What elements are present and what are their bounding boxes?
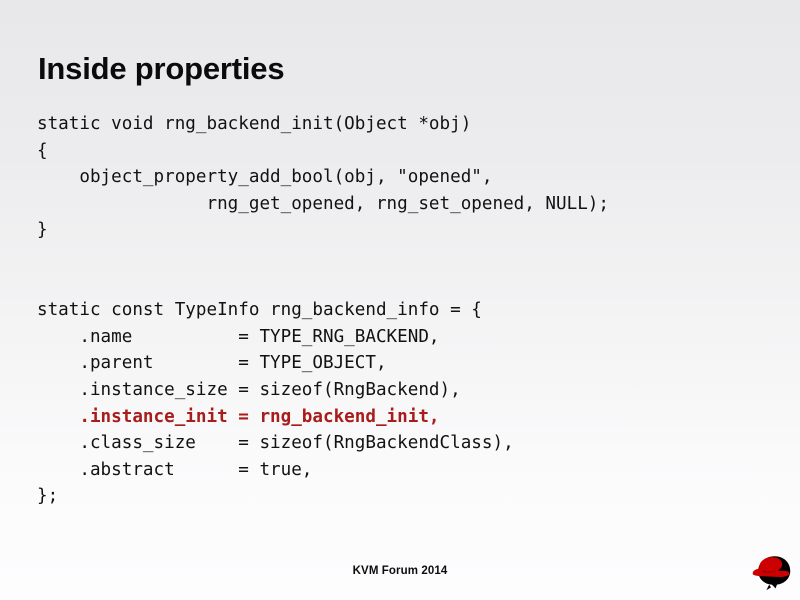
code-line: static void rng_backend_init(Object *obj…: [37, 111, 767, 138]
code-line: object_property_add_bool(obj, "opened",: [37, 164, 767, 191]
code-line: .instance_size = sizeof(RngBackend),: [37, 377, 767, 404]
red-hat-shadowman-logo: [748, 548, 794, 592]
code-line: {: [37, 138, 767, 165]
code-line: .abstract = true,: [37, 457, 767, 484]
code-block: static void rng_backend_init(Object *obj…: [37, 111, 767, 510]
code-line: static const TypeInfo rng_backend_info =…: [37, 297, 767, 324]
code-line: rng_get_opened, rng_set_opened, NULL);: [37, 191, 767, 218]
code-line: .class_size = sizeof(RngBackendClass),: [37, 430, 767, 457]
code-line: [37, 271, 767, 298]
code-line: .parent = TYPE_OBJECT,: [37, 350, 767, 377]
code-line: };: [37, 483, 767, 510]
code-line-highlighted: .instance_init = rng_backend_init,: [37, 404, 767, 431]
code-line: .name = TYPE_RNG_BACKEND,: [37, 324, 767, 351]
code-line: }: [37, 217, 767, 244]
page-title: Inside properties: [38, 50, 284, 88]
presentation-slide: Inside properties static void rng_backen…: [0, 0, 800, 600]
code-line: [37, 244, 767, 271]
footer-label: KVM Forum 2014: [0, 565, 800, 577]
